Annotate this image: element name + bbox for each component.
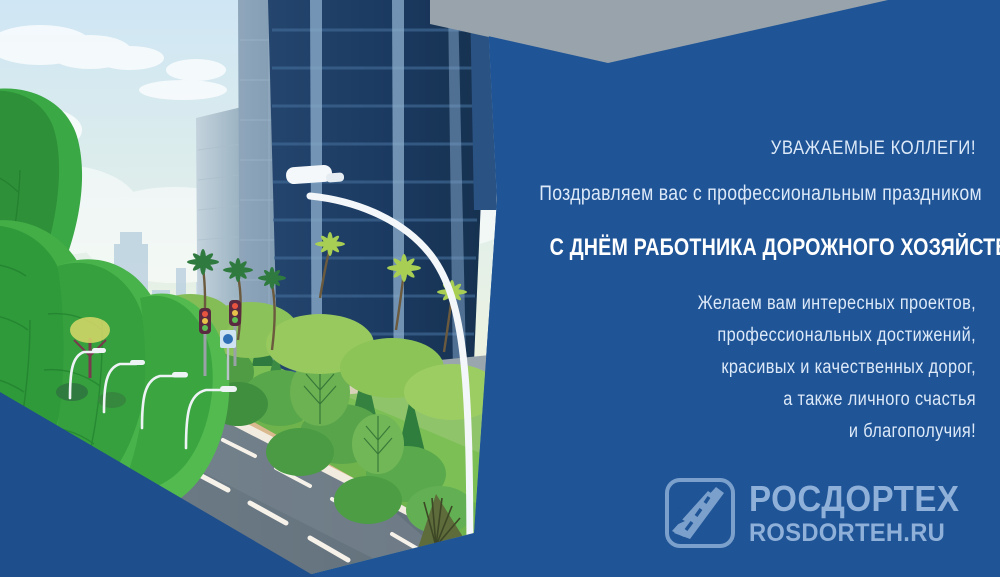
logo-wordmark: РОСДОРТЕХ ROSDORTEH.RU — [749, 481, 978, 546]
lamp-head — [285, 164, 332, 184]
greeting-card: УВАЖАЕМЫЕ КОЛЛЕГИ! Поздравляем вас с про… — [0, 0, 1000, 577]
logo-name-ru: РОСДОРТЕХ — [749, 481, 959, 517]
rosdorteh-logo[interactable]: РОСДОРТЕХ ROSDORTEH.RU — [664, 477, 978, 549]
logo-name-latin: ROSDORTEH.RU — [749, 521, 966, 546]
road-icon — [664, 477, 736, 549]
